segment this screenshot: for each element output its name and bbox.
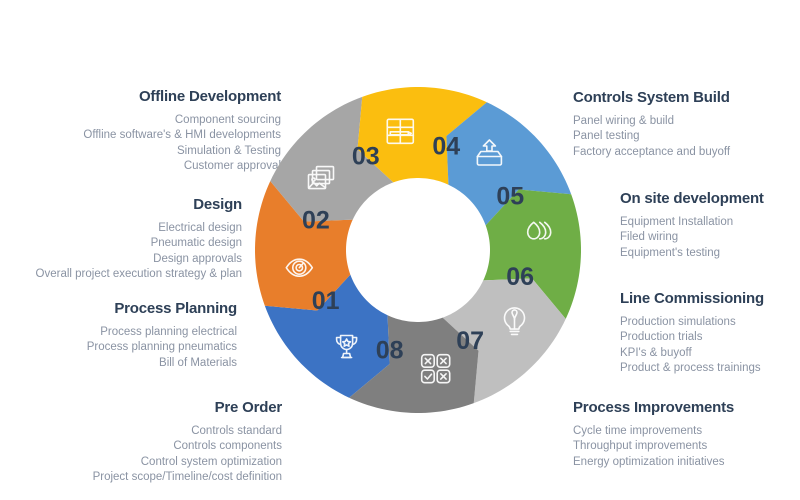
segment-number-03: 03 — [352, 142, 380, 170]
segment-number-08: 08 — [376, 337, 404, 365]
list-item: Cycle time improvements — [573, 424, 800, 440]
list-item: Customer approval — [0, 159, 281, 175]
list-item: Control system optimization — [0, 455, 282, 471]
block-item-list: Component sourcing Offline software's & … — [0, 113, 281, 175]
list-item: Panel wiring & build — [573, 114, 800, 130]
block-item-list: Controls standard Controls components Co… — [0, 424, 282, 486]
list-item: Factory acceptance and buyoff — [573, 145, 800, 161]
block-title: Process Improvements — [573, 399, 800, 418]
text-block-design: Design Electrical design Pneumatic desig… — [0, 196, 242, 283]
text-block-on-site-development: On site development Equipment Installati… — [620, 190, 800, 261]
diagram-canvas: Offline Development Component sourcing O… — [0, 0, 800, 500]
list-item: Throughput improvements — [573, 439, 800, 455]
list-item: Panel testing — [573, 129, 800, 145]
segment-number-04: 04 — [432, 133, 460, 161]
block-item-list: Production simulations Production trials… — [620, 315, 800, 377]
block-item-list: Cycle time improvements Throughput impro… — [573, 424, 800, 471]
segment-number-06: 06 — [506, 263, 534, 291]
block-item-list: Electrical design Pneumatic design Desig… — [0, 221, 242, 283]
list-item: Project scope/Timeline/cost definition — [0, 470, 282, 486]
block-item-list: Process planning electrical Process plan… — [0, 325, 237, 372]
block-title: Process Planning — [0, 300, 237, 319]
list-item: Product & process trainings — [620, 361, 800, 377]
block-title: Controls System Build — [573, 89, 800, 108]
text-block-process-improvements: Process Improvements Cycle time improvem… — [573, 399, 800, 470]
block-title: Line Commissioning — [620, 290, 800, 309]
list-item: Bill of Materials — [0, 356, 237, 372]
list-item: Electrical design — [0, 221, 242, 237]
list-item: Filed wiring — [620, 230, 800, 246]
block-item-list: Panel wiring & build Panel testing Facto… — [573, 114, 800, 161]
list-item: Equipment's testing — [620, 246, 800, 262]
block-title: Offline Development — [0, 88, 281, 107]
segment-number-02: 02 — [302, 206, 330, 234]
list-item: Production trials — [620, 330, 800, 346]
list-item: Production simulations — [620, 315, 800, 331]
text-block-offline-development: Offline Development Component sourcing O… — [0, 88, 281, 175]
segment-number-01: 01 — [312, 287, 340, 315]
wheel-segment-group — [255, 87, 581, 413]
segment-number-07: 07 — [456, 327, 484, 355]
list-item: Energy optimization initiatives — [573, 455, 800, 471]
text-block-pre-order: Pre Order Controls standard Controls com… — [0, 399, 282, 486]
list-item: Process planning electrical — [0, 325, 237, 341]
list-item: Controls standard — [0, 424, 282, 440]
list-item: Component sourcing — [0, 113, 281, 129]
block-item-list: Equipment Installation Filed wiring Equi… — [620, 215, 800, 262]
block-title: Design — [0, 196, 242, 215]
list-item: Controls components — [0, 439, 282, 455]
block-title: On site development — [620, 190, 800, 209]
segment-number-05: 05 — [496, 182, 524, 210]
list-item: Pneumatic design — [0, 236, 242, 252]
text-block-process-planning: Process Planning Process planning electr… — [0, 300, 237, 371]
list-item: Equipment Installation — [620, 215, 800, 231]
list-item: KPI's & buyoff — [620, 346, 800, 362]
text-block-line-commissioning: Line Commissioning Production simulation… — [620, 290, 800, 377]
text-block-controls-system-build: Controls System Build Panel wiring & bui… — [573, 89, 800, 160]
list-item: Process planning pneumatics — [0, 340, 237, 356]
list-item: Offline software's & HMI developments — [0, 128, 281, 144]
list-item: Simulation & Testing — [0, 144, 281, 160]
list-item: Overall project execution strategy & pla… — [0, 267, 242, 283]
process-cycle-wheel: 0102030405060708 — [253, 60, 583, 440]
list-item: Design approvals — [0, 252, 242, 268]
block-title: Pre Order — [0, 399, 282, 418]
